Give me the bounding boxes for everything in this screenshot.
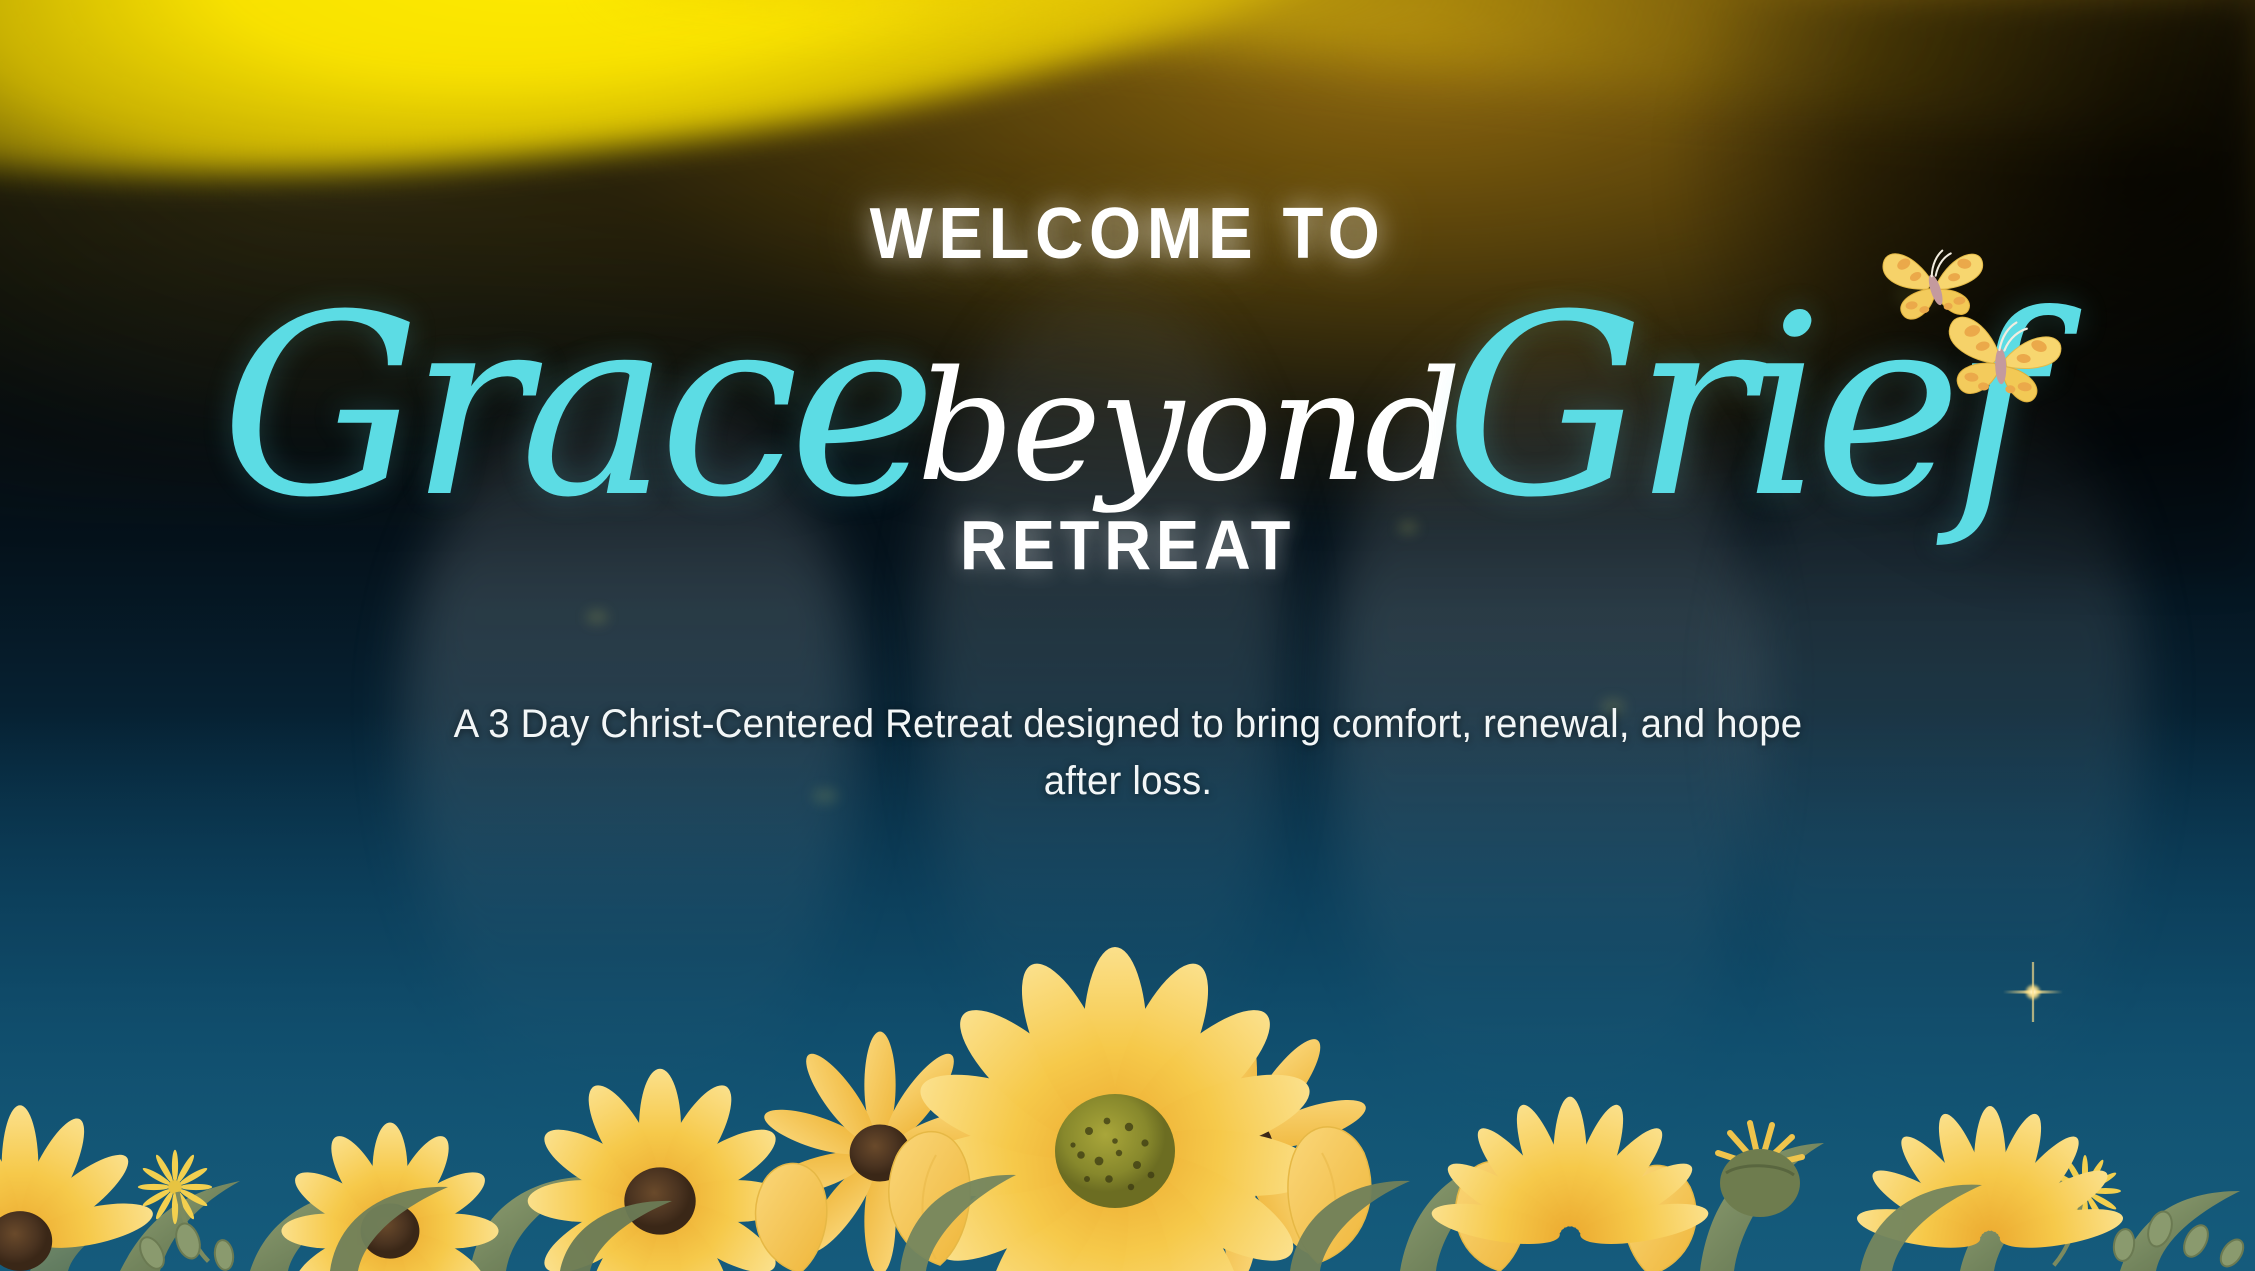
page-subheading: RETREAT — [79, 510, 2176, 580]
sparkle-core — [2025, 984, 2041, 1000]
hero-banner: WELCOME TO GracebeyondGrief RETREAT A 3 … — [0, 0, 2255, 1271]
sparkle-icon — [2003, 962, 2063, 1022]
title-word-beyond: beyond — [917, 351, 1459, 503]
title-word-grace: Grace — [221, 282, 927, 532]
hero-subtitle: A 3 Day Christ-Centered Retreat designed… — [422, 696, 1833, 810]
page-kicker: WELCOME TO — [79, 0, 2176, 270]
butterfly-icon — [1868, 228, 2098, 418]
butterfly-pair — [1868, 228, 2098, 418]
